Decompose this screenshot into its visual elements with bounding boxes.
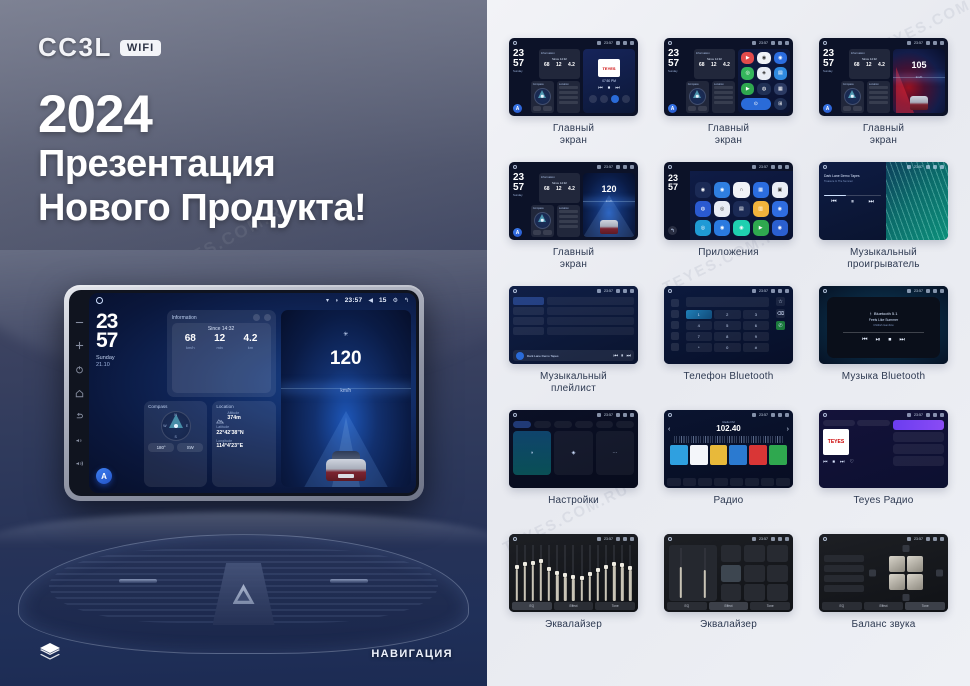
preset-button[interactable]	[721, 565, 742, 582]
app-icon: ◎	[714, 201, 730, 217]
tab-eq[interactable]: EQ	[512, 602, 552, 610]
thumbnail-music-player[interactable]: 23:57 Dark Lane Demo Tapes Treasure In T…	[819, 162, 948, 240]
mini-apps-panel: ▶ ◉ ◉ ◎ ◈ ▤ ▶ ◍ ▦ ⊙ ⊞	[738, 49, 790, 113]
list-item[interactable]	[893, 444, 944, 454]
card-wifi[interactable]: ◗	[513, 431, 551, 475]
tab-tone[interactable]: Tone	[905, 602, 945, 610]
compass-mark-e: E	[186, 424, 188, 428]
mini-statusbar: 23:57	[819, 162, 948, 171]
home-icon	[668, 537, 672, 541]
player-controls[interactable]: ⏮ ⏯ ⏹ ⏭	[862, 337, 905, 344]
back-icon	[940, 289, 944, 293]
tab-about[interactable]	[616, 421, 634, 428]
home-icon[interactable]	[75, 389, 84, 398]
head-unit-screen[interactable]: ▾ ◗ 23:57 ◀ 15 ⚙ ↰	[89, 293, 416, 493]
avatar	[516, 352, 524, 360]
compass-location-row: A Compass N E	[96, 401, 276, 488]
clock-widget[interactable]: 23 57 Sunday 21.10	[96, 310, 161, 397]
mini-info: Information Since 14:32 68 12 4.2	[849, 49, 890, 79]
teyes-radio-screen: TEYES ⏮ ⏹ ⏭ ♡	[819, 410, 948, 488]
thumbnail-teyes-radio[interactable]: 23:57 TEYES ⏮ ⏹ ⏭ ♡	[819, 410, 948, 488]
contacts-icon[interactable]	[671, 310, 679, 318]
preset-button[interactable]	[721, 584, 742, 601]
back-icon[interactable]: ↰	[668, 226, 677, 235]
volume-icon	[771, 165, 775, 169]
volume-down-icon[interactable]	[75, 436, 84, 445]
tuning-arrows[interactable]: ‹ ›	[668, 426, 789, 433]
thumbnail-bluetooth-music[interactable]: 23:57 ᚼ Bluetooth 5.1 Feels Like Summer …	[819, 286, 948, 364]
visualizer	[886, 162, 948, 240]
compass-values	[533, 230, 552, 235]
tab-eq[interactable]: EQ	[667, 602, 707, 610]
eq-slider[interactable]	[523, 545, 526, 601]
music-player: Dark Lane Demo Tapes Treasure In The Sum…	[819, 162, 948, 240]
mini-time: 23:57	[759, 289, 768, 293]
thumbnail-home-apps[interactable]: 23:57 23 57 Sunday Information	[664, 38, 793, 116]
eq-slider[interactable]	[596, 545, 599, 601]
radio-screen: Radio FM 102.40 ‹ ›	[664, 410, 793, 488]
balance-pad[interactable]	[869, 545, 943, 601]
settings-icon	[623, 289, 627, 293]
refresh-icon[interactable]	[253, 314, 260, 321]
preset-button[interactable]	[744, 545, 765, 562]
preset-grid[interactable]	[721, 545, 788, 601]
preset-button[interactable]	[744, 584, 765, 601]
app-icon: ▶	[753, 220, 769, 236]
settings-icon	[623, 41, 627, 45]
mini-fab-wrap: A	[513, 205, 528, 237]
stop-icon[interactable]: ⏹	[833, 459, 836, 465]
mini-info: Information Since 14:32 68 12 4.2	[539, 49, 580, 79]
prev-icon[interactable]: ⏮	[831, 199, 836, 206]
next-icon[interactable]: ⏭	[868, 199, 873, 206]
preset-station[interactable]	[769, 445, 787, 465]
dialer-actions[interactable]: ☆ ⌫ ✆	[772, 297, 789, 360]
hardware-button-strip[interactable]	[69, 293, 89, 493]
preset-station[interactable]	[729, 445, 747, 465]
navigation-widget[interactable]: ✳ 120 km/h	[281, 310, 411, 487]
balance-left-button[interactable]	[869, 570, 876, 577]
bt-header: ᚼ Bluetooth 5.1	[870, 311, 898, 316]
grid-cell[interactable]: 23:57 23 57 Sunday Information	[656, 38, 801, 162]
grid-cell[interactable]: 23:57 TEYES ⏮ ⏹ ⏭ ♡	[811, 410, 956, 534]
tab-apps[interactable]	[575, 421, 593, 428]
key-9[interactable]: 9	[743, 332, 770, 341]
key-1[interactable]: 1	[686, 310, 713, 319]
back-icon	[785, 413, 789, 417]
mini-time: 23:57	[604, 289, 613, 293]
thumbnail-label: Телефон Bluetooth	[684, 371, 774, 383]
wifi-icon: ◗	[335, 298, 339, 304]
thumbnail-label: Музыкальный проигрыватель	[847, 247, 919, 271]
settings-cards[interactable]: ◗ ◈ ⋯	[513, 431, 634, 475]
tab-genre[interactable]	[857, 420, 889, 426]
prev-station-icon[interactable]: ‹	[668, 426, 670, 433]
eq-tabs[interactable]: EQ Effect Tone	[667, 602, 790, 610]
tone-slider[interactable]	[679, 548, 682, 598]
teyes-tabs[interactable]	[823, 420, 890, 426]
wifi-icon	[907, 413, 911, 417]
mini-statusbar: 23:57	[819, 38, 948, 47]
list-item[interactable]	[513, 317, 544, 325]
search-icon[interactable]	[671, 321, 679, 329]
information-stats: 68 km/h 12 min	[176, 334, 267, 350]
thumbnail-apps[interactable]: 23:57 23 57 ↰ ◉ ◉ ∩ ▦ ▣ ◍ ◎ ▤	[664, 162, 793, 240]
key-0[interactable]: 0	[714, 343, 741, 352]
volume-icon	[616, 41, 620, 45]
tab-live[interactable]	[823, 420, 855, 426]
grid-cell[interactable]: 23:57 23 57 Sunday Information	[811, 38, 956, 162]
tab-sound[interactable]	[534, 421, 552, 428]
apps-icon[interactable]	[776, 478, 790, 486]
preset-button[interactable]	[824, 555, 864, 562]
stat-unit: km/h	[185, 345, 196, 350]
grid-cell[interactable]: 23:57	[656, 534, 801, 658]
mini-row1: 23 57 Sunday Information Since 14:32 68	[513, 173, 580, 203]
thumbnail-home-nav-red[interactable]: 23:57 23 57 Sunday Information	[819, 38, 948, 116]
settings-icon	[778, 537, 782, 541]
list-item[interactable]	[893, 432, 944, 442]
preset-list[interactable]	[668, 445, 789, 465]
album-art: TEYES	[598, 59, 620, 77]
eq-tabs[interactable]: EQ Effect Tone	[512, 602, 635, 610]
thumbnail-bluetooth-phone[interactable]: 23:57 1 2	[664, 286, 793, 364]
rds-icon[interactable]	[745, 478, 759, 486]
thumbnail-label: Эквалайзер	[545, 619, 602, 631]
car-plate	[338, 474, 354, 478]
expand-icon[interactable]	[264, 314, 271, 321]
speaker-rl	[889, 574, 905, 590]
back-icon[interactable]	[75, 412, 84, 421]
settings-icon	[933, 165, 937, 169]
mini-time: 23:57	[759, 537, 768, 541]
tab-tone[interactable]: Tone	[595, 602, 635, 610]
favorite-icon[interactable]: ☆	[776, 297, 785, 306]
pause-icon[interactable]: ⏸	[621, 353, 624, 359]
thumbnail-label: Музыка Bluetooth	[842, 371, 926, 383]
player-controls[interactable]: ⏮ ⏸ ⏭	[824, 199, 881, 206]
thumbnail-equalizer-tone[interactable]: 23:57	[664, 534, 793, 612]
eq-slider[interactable]	[580, 545, 583, 601]
table-row[interactable]	[547, 297, 634, 305]
balance-presets[interactable]	[824, 545, 864, 601]
eq-slider[interactable]	[588, 545, 591, 601]
key-8[interactable]: 8	[714, 332, 741, 341]
prev-icon[interactable]: ⏮	[613, 353, 618, 359]
key-star[interactable]: *	[686, 343, 713, 352]
volume-icon	[926, 413, 930, 417]
mini-clock: 23 57 Sunday	[823, 49, 846, 79]
key-7[interactable]: 7	[686, 332, 713, 341]
settings-icon[interactable]	[671, 343, 679, 351]
mini-location: Location	[712, 81, 735, 113]
card-more[interactable]: ⋯	[596, 431, 634, 475]
fade-rear-button[interactable]	[903, 594, 910, 601]
list-item[interactable]	[893, 420, 944, 430]
progress-bar[interactable]	[824, 195, 881, 196]
compass-dial	[534, 88, 551, 105]
table-row[interactable]	[547, 317, 634, 325]
statusbar-time: 23:57	[345, 297, 363, 304]
speed-value: 120	[602, 184, 617, 194]
information-since: Since 14:32	[176, 326, 267, 332]
number-display[interactable]	[686, 297, 770, 307]
mini-left: 23 57 Sunday Information Since 14:32 68	[823, 49, 890, 113]
teyes-left: TEYES ⏮ ⏹ ⏭ ♡	[823, 420, 890, 484]
progress-bar[interactable]	[843, 332, 924, 333]
tone-slider[interactable]	[703, 548, 706, 598]
table-row[interactable]	[547, 307, 634, 315]
mini-row1: 23 57 Sunday Information Since 14:32 68	[513, 49, 580, 79]
volume-icon: ◀	[368, 298, 373, 304]
grid-cell[interactable]: 23:57	[501, 286, 646, 410]
preset-button[interactable]	[721, 545, 742, 562]
preset-button[interactable]	[824, 585, 864, 592]
app-icon: ◎	[695, 220, 711, 236]
stat-item: 4.2 km	[244, 334, 258, 350]
volume-icon	[926, 165, 930, 169]
grid-cell[interactable]: 23:57 ᚼ Bluetooth 5.1 Feels Like Summer …	[811, 286, 956, 410]
player-controls[interactable]: ⏮ ⏹ ⏭ ♡	[823, 459, 890, 465]
thumbnail-playlist[interactable]: 23:57	[509, 286, 638, 364]
apps-grid[interactable]: ◉ ◉ ∩ ▦ ▣ ◍ ◎ ▤ ▥ ◉ ◎ ◉ ◉ ▶ ◉	[690, 171, 793, 240]
thumbnail-label: Баланс звука	[851, 619, 915, 631]
thumbnail-home-nav[interactable]: 23:57 23 57 Sunday Information	[509, 162, 638, 240]
home-icon	[823, 413, 827, 417]
dialer-main: 1 2 3 4 5 6 7 8 9 * 0 #	[686, 297, 770, 360]
preset-station[interactable]	[670, 445, 688, 465]
preset-button[interactable]	[744, 565, 765, 582]
eq-slider[interactable]	[556, 545, 559, 601]
car-3d-model	[910, 96, 928, 110]
settings-icon	[933, 289, 937, 293]
next-icon[interactable]: ⏭	[840, 459, 845, 465]
information-actions[interactable]	[253, 314, 271, 321]
eq-tabs[interactable]: EQ Effect Tone	[822, 602, 945, 610]
location-widget[interactable]: Location Altitude 374m	[212, 401, 275, 488]
stop-icon[interactable]: ⏹	[888, 337, 891, 344]
now-playing-bar[interactable]: Dark Lane Demo Tapes ⏮ ⏸ ⏭	[513, 350, 634, 361]
fade-front-button[interactable]	[903, 545, 910, 552]
settings-icon	[623, 165, 627, 169]
mini-navigation: 120 km/h	[583, 173, 635, 237]
settings-tabs[interactable]	[513, 421, 634, 428]
stat-value: 4.2	[878, 62, 885, 68]
pause-icon[interactable]: ⏸	[851, 199, 854, 206]
wifi-icon	[597, 41, 601, 45]
thumbnail-equalizer[interactable]: 23:57	[509, 534, 638, 612]
grid-cell[interactable]: 23:57 23 57 ↰ ◉ ◉ ∩ ▦ ▣ ◍ ◎ ▤	[656, 162, 801, 286]
eq-slider[interactable]	[621, 545, 624, 601]
backspace-icon[interactable]: ⌫	[776, 309, 785, 318]
key-hash[interactable]: #	[743, 343, 770, 352]
eq-slider[interactable]	[548, 545, 551, 601]
scan-icon[interactable]	[714, 478, 728, 486]
radio-toolbar[interactable]	[667, 478, 790, 486]
next-icon[interactable]: ⏭	[626, 353, 631, 359]
speed-value: 120	[330, 349, 362, 368]
tab-effect[interactable]: Effect	[864, 602, 904, 610]
tab-effect[interactable]: Effect	[709, 602, 749, 610]
band-button[interactable]	[667, 478, 681, 486]
preset-button[interactable]	[767, 584, 788, 601]
thumbnail-settings[interactable]: 23:57 ◗ ◈ ⋯	[509, 410, 638, 488]
eq-sliders[interactable]	[513, 545, 634, 601]
list-item[interactable]	[513, 297, 544, 305]
next-station-icon[interactable]: ›	[787, 426, 789, 433]
tab-effect[interactable]: Effect	[554, 602, 594, 610]
preset-station[interactable]	[710, 445, 728, 465]
wifi-icon	[597, 165, 601, 169]
eq-slider[interactable]	[531, 545, 534, 601]
compass-widget[interactable]: Compass N E S W	[144, 401, 207, 488]
key-3[interactable]: 3	[743, 310, 770, 319]
settings-icon[interactable]: ⚙	[393, 298, 398, 304]
mini-location: Location	[867, 81, 890, 113]
screen-left-column: 23 57 Sunday 21.10 Information	[96, 310, 276, 487]
preset-button[interactable]	[824, 565, 864, 572]
eq-slider[interactable]	[564, 545, 567, 601]
thumbnail-sound-balance[interactable]: 23:57	[819, 534, 948, 612]
car-interior-photo: ▾ ◗ 23:57 ◀ 15 ⚙ ↰	[0, 250, 487, 686]
stat-unit: min	[214, 345, 225, 350]
mini-compass: Compass	[531, 205, 554, 237]
back-icon[interactable]: ↰	[404, 298, 409, 304]
next-icon[interactable]: ⏭	[899, 337, 904, 344]
compass-direction: SW	[177, 443, 203, 452]
grid-cell[interactable]: 23:57 1 2	[656, 286, 801, 410]
eq-slider[interactable]	[629, 545, 632, 601]
apps-sidebar: 23 57 ↰	[664, 171, 690, 240]
thumbnail-radio[interactable]: 23:57 Radio FM 102.40 ‹ ›	[664, 410, 793, 488]
mini-statusbar: 23:57	[819, 534, 948, 543]
assistant-fab[interactable]: A	[96, 468, 112, 484]
volume-up-icon[interactable]	[75, 459, 84, 468]
compass-title: Compass	[148, 404, 203, 409]
key-2[interactable]: 2	[714, 310, 741, 319]
dialer-nav[interactable]	[668, 297, 683, 360]
balance-right-button[interactable]	[936, 570, 943, 577]
information-widget[interactable]: Information Since 14:32	[167, 310, 276, 397]
home-icon	[513, 41, 517, 45]
grid-cell[interactable]: 23:57	[811, 534, 956, 658]
app-icon: ▣	[772, 182, 788, 198]
key-5[interactable]: 5	[714, 321, 741, 330]
tab-eq[interactable]: EQ	[822, 602, 862, 610]
prev-icon[interactable]: ⏮	[823, 459, 828, 465]
home-icon[interactable]	[96, 297, 103, 304]
app-icon: ◉	[733, 220, 749, 236]
longitude-block: Longitude 114°4'23"E	[216, 439, 271, 451]
eq-icon[interactable]	[761, 478, 775, 486]
list-item[interactable]	[513, 307, 544, 315]
preset-button[interactable]	[824, 575, 864, 582]
search-icon[interactable]	[683, 478, 697, 486]
app-icon: ▦	[774, 83, 787, 95]
stat-value: 68	[699, 62, 705, 68]
favorite-icon[interactable]: ♡	[850, 459, 854, 465]
thumbnail-home-media[interactable]: 23:57 23 57 Sunday Information	[509, 38, 638, 116]
key-6[interactable]: 6	[743, 321, 770, 330]
dialer-screen: 1 2 3 4 5 6 7 8 9 * 0 #	[664, 286, 793, 364]
app-icon: ⊙	[741, 98, 771, 110]
play-icon[interactable]: ⏯	[876, 337, 881, 344]
home-icon	[823, 165, 827, 169]
eq-slider[interactable]	[572, 545, 575, 601]
preset-button[interactable]	[767, 545, 788, 562]
navigation-label: НАВИГАЦИЯ	[371, 648, 453, 660]
power-icon[interactable]	[75, 365, 84, 374]
mini-info-stats: 68 12 4.2	[696, 62, 733, 68]
grid-cell[interactable]: 23:57 23 57 Sunday Information	[501, 38, 646, 162]
screenshot-grid: 23:57 23 57 Sunday Information	[501, 38, 956, 658]
preset-station[interactable]	[749, 445, 767, 465]
frequency-scale[interactable]	[674, 436, 783, 443]
speed-limit-icon: ✳	[343, 331, 348, 338]
tab-system[interactable]	[596, 421, 614, 428]
prev-icon[interactable]: ⏮	[862, 337, 867, 344]
call-log-icon[interactable]	[671, 332, 679, 340]
grid-cell[interactable]: 23:57 23 57 Sunday Information	[501, 162, 646, 286]
preset-station[interactable]	[690, 445, 708, 465]
eq-slider[interactable]	[605, 545, 608, 601]
mini-info-since: Since 14:32	[851, 57, 888, 61]
latitude-value: 22°42'38"N	[216, 430, 271, 437]
table-row[interactable]	[547, 327, 634, 335]
tab-display[interactable]	[554, 421, 572, 428]
mini-time: 23:57	[759, 413, 768, 417]
mini-time: 23:57	[914, 413, 923, 417]
minus-icon[interactable]	[75, 318, 84, 327]
mini-compass: Compass	[841, 81, 864, 113]
card-carplay[interactable]: ◈	[554, 431, 592, 475]
list-item[interactable]	[893, 456, 944, 466]
tone-sliders[interactable]	[669, 545, 717, 601]
grid-cell[interactable]: 23:57 ◗ ◈ ⋯	[501, 410, 646, 534]
key-4[interactable]: 4	[686, 321, 713, 330]
dialpad-icon[interactable]	[671, 299, 679, 307]
speaker-fr	[907, 556, 923, 572]
brand-logo: CC3L WIFI	[38, 32, 161, 63]
grid-cell[interactable]: 23:57 Dark Lane Demo Tapes Treasure In T…	[811, 162, 956, 286]
save-icon[interactable]	[730, 478, 744, 486]
list-item[interactable]	[513, 327, 544, 335]
grid-cell[interactable]: 23:57	[501, 534, 646, 658]
stat-unit: km	[244, 345, 258, 350]
app-icon: ◉	[772, 220, 788, 236]
mini-statusbar: 23:57	[664, 162, 793, 171]
tab-wifi[interactable]	[513, 421, 531, 428]
preset-button[interactable]	[767, 565, 788, 582]
thumbnail-label: Teyes Радио	[854, 495, 914, 507]
back-icon	[630, 413, 634, 417]
eq-slider[interactable]	[539, 545, 542, 601]
clock-weekday: Sunday	[96, 355, 161, 363]
tab-tone[interactable]: Tone	[750, 602, 790, 610]
grid-cell[interactable]: 23:57 Radio FM 102.40 ‹ ›	[656, 410, 801, 534]
station-list[interactable]	[893, 420, 944, 484]
call-icon[interactable]: ✆	[776, 321, 785, 330]
eq-slider[interactable]	[613, 545, 616, 601]
app-icon: ▤	[733, 201, 749, 217]
list-icon[interactable]	[698, 478, 712, 486]
wifi-icon	[597, 537, 601, 541]
plus-icon[interactable]	[75, 341, 84, 350]
keypad[interactable]: 1 2 3 4 5 6 7 8 9 * 0 #	[686, 310, 770, 352]
eq-slider[interactable]	[515, 545, 518, 601]
app-icon: ◉	[757, 52, 770, 64]
app-icon: ◍	[695, 201, 711, 217]
